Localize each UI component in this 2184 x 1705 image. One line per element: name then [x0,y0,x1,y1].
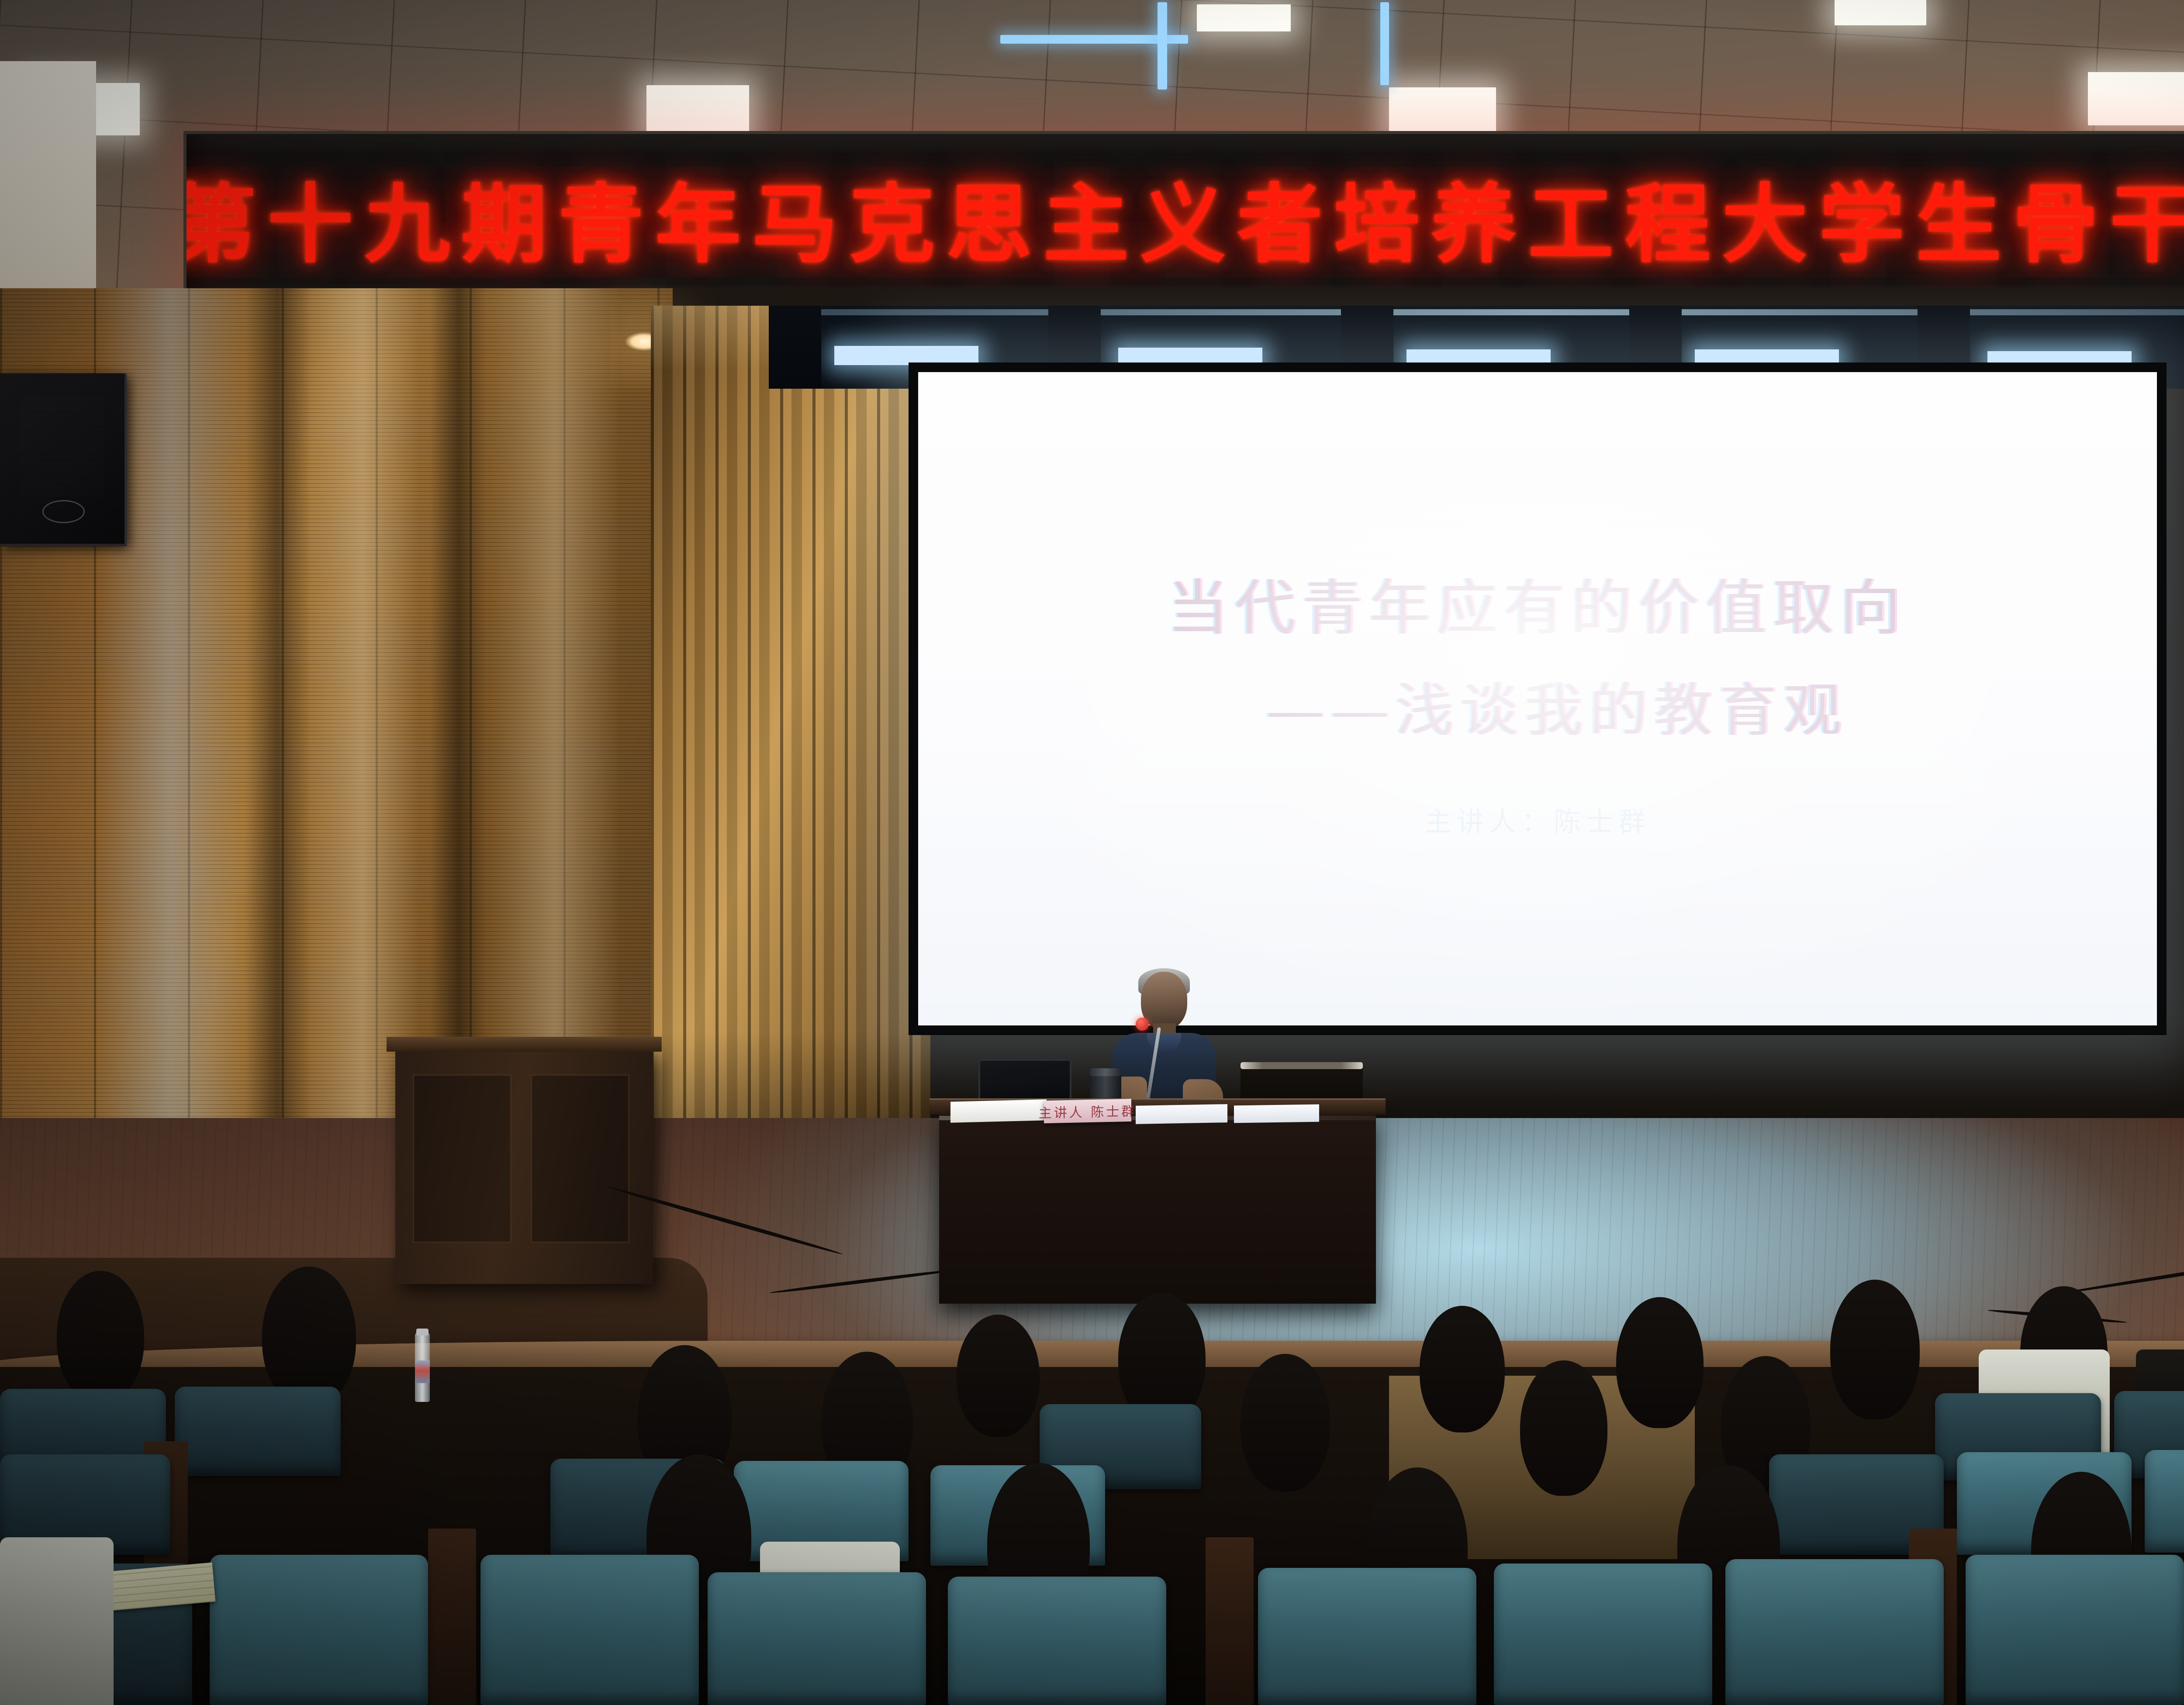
water-bottle-label [415,1360,430,1383]
ceiling-light-4 [2088,72,2184,125]
seat-r3-c3 [708,1572,926,1705]
podium-top-surface [387,1037,662,1052]
stage-curtain-left [651,306,930,1258]
presenter-table [939,1111,1376,1304]
presenter-nameplate: 主讲人 陈士群 [1044,1099,1131,1123]
water-bottle-cap [416,1329,429,1336]
table-paper-right [1234,1104,1319,1123]
speaker-logo-icon [42,500,85,523]
projection-screen: 当代青年应有的价值取向 ——浅谈我的教育观 主讲人：陈士群 [918,372,2157,1025]
audience-head-a3 [957,1315,1040,1437]
led-banner: 第十九期青年马克思主义者培养工程大学生骨干培训班专题报告 [183,131,2184,303]
seat-r3-c1 [210,1555,428,1705]
ceiling-light-2 [646,85,749,138]
seat-r3-c6 [1494,1563,1712,1705]
led-banner-text: 第十九期青年马克思主义者培养工程大学生骨干培训班专题报告 [183,155,2184,279]
table-paper-middle [1136,1104,1227,1124]
slide-subtitle: ——浅谈我的教育观 [1227,664,1848,747]
audience-head-a6 [1616,1297,1704,1428]
presenter-nameplate-text: 主讲人 陈士群 [1039,1101,1137,1122]
audience-head-a1 [57,1271,144,1402]
podium-panel-2 [531,1074,629,1243]
presenter-thermos-lid [1090,1068,1121,1076]
slide-title: 当代青年应有的价值取向 [1168,559,1908,646]
ceiling-blue-reflection-3 [1380,2,1389,85]
seat-r1-c2 [175,1387,341,1476]
seat-r2-c7 [2145,1450,2184,1553]
speaker-grille-icon [20,397,105,496]
table-paper-left [950,1099,1047,1122]
audience-head-a7 [1830,1280,1920,1419]
audience-head-b4 [1520,1360,1607,1496]
seat-frame-r3-1 [428,1529,476,1705]
audience-head-b3 [1241,1354,1330,1491]
audience-head-a2 [262,1267,356,1406]
auditorium-photograph: 第十九期青年马克思主义者培养工程大学生骨干培训班专题报告 [0,0,2184,1705]
slide-speaker-line: 主讲人：陈士群 [1424,800,1651,839]
seat-r3-c8 [1966,1555,2184,1705]
ceiling-blue-reflection-2 [1158,2,1167,90]
upper-wall-left [0,61,96,306]
audience-head-a5 [1420,1306,1505,1432]
seat-frame-r3-2 [1206,1537,1254,1705]
seat-r3-c2 [480,1555,699,1705]
seat-r3-c4 [948,1577,1166,1705]
ceiling-light-6 [1197,4,1291,31]
ceiling-light-7 [1835,0,1926,25]
seat-r3-c7 [1725,1559,1944,1705]
presenter [1109,972,1219,1120]
microphone-head-icon [1136,1018,1149,1031]
truss-rail [769,309,2184,315]
truss-mount-1 [769,306,821,389]
near-student-shirt [0,1537,114,1705]
stage-podium-cabinet [395,1048,653,1284]
projection-screen-frame: 当代青年应有的价值取向 ——浅谈我的教育观 主讲人：陈士群 [909,362,2167,1035]
second-chair-rail [1241,1062,1363,1069]
wall-speaker-left [0,373,127,546]
seat-r3-c5 [1258,1568,1476,1705]
podium-panel-1 [413,1074,511,1243]
